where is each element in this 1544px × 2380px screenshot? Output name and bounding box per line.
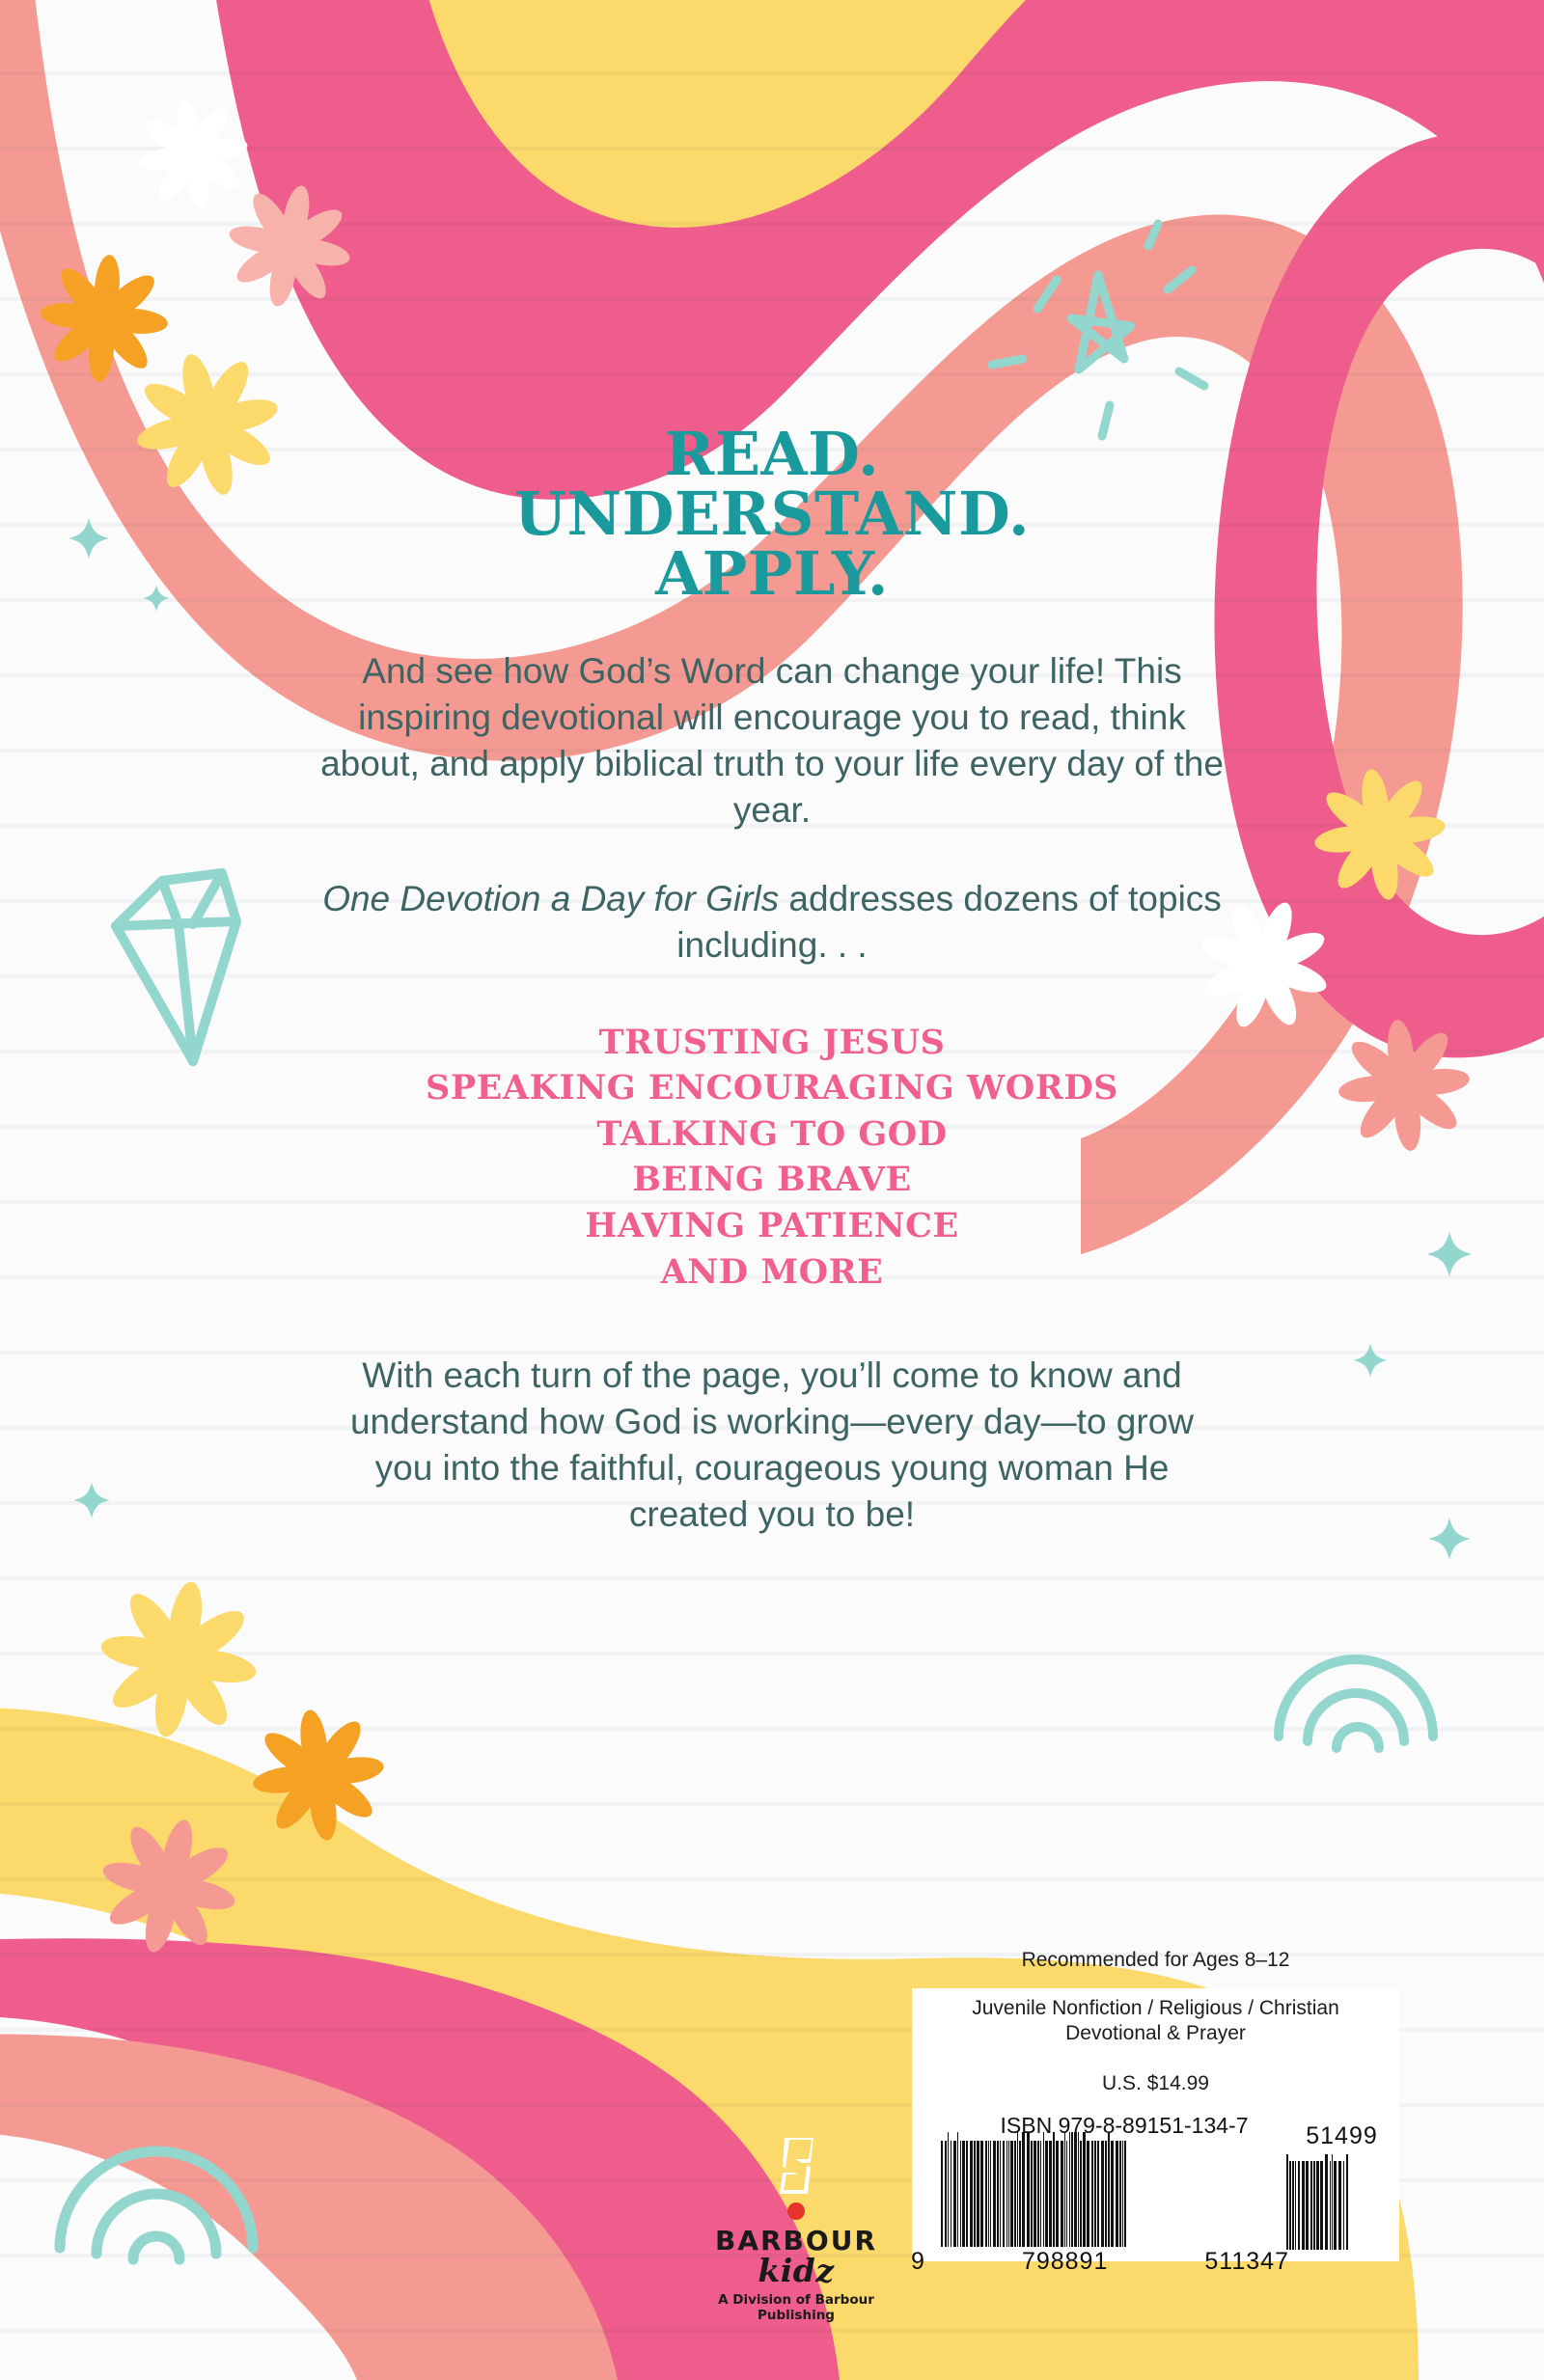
- topic-item: TRUSTING JESUS: [0, 1020, 1544, 1066]
- barcode-addon-digits: 51499: [1286, 2122, 1397, 2150]
- barcode-left-digits: 798891: [1022, 2248, 1108, 2276]
- rainbow-doodle-icon: [1279, 1659, 1433, 1748]
- topic-item: SPEAKING ENCOURAGING WORDS: [0, 1065, 1544, 1111]
- publisher-logo: BARBOUR kidz A Division of Barbour Publi…: [685, 2134, 907, 2323]
- topics-intro-paragraph: One Devotion a Day for Girls addresses d…: [0, 876, 1544, 969]
- headline-line-2: UNDERSTAND.: [0, 484, 1544, 544]
- daisy-flower-icon: [35, 249, 173, 387]
- barbour-exclamation-mark-icon: [685, 2134, 907, 2227]
- topic-item: TALKING TO GOD: [0, 1111, 1544, 1158]
- topics-list: TRUSTING JESUS SPEAKING ENCOURAGING WORD…: [0, 1020, 1544, 1296]
- age-recommendation: Recommended for Ages 8–12: [912, 1949, 1399, 1972]
- back-cover-copy: READ. UNDERSTAND. APPLY. And see how God…: [0, 424, 1544, 1539]
- barcode-digits: 9 798891 511347: [907, 2248, 1293, 2276]
- topic-item: HAVING PATIENCE: [0, 1203, 1544, 1249]
- book-title: One Devotion a Day for Girls: [322, 879, 779, 918]
- barcode-right-digits: 511347: [1204, 2248, 1289, 2276]
- star-doodle-icon: [992, 224, 1204, 436]
- bisac-category: Juvenile Nonfiction / Religious / Christ…: [912, 1996, 1399, 2045]
- topic-item: AND MORE: [0, 1249, 1544, 1296]
- closing-paragraph: With each turn of the page, you’ll come …: [0, 1353, 1544, 1538]
- rainbow-doodle-icon: [60, 2151, 253, 2259]
- headline-line-1: READ.: [0, 424, 1544, 484]
- page-title: READ. UNDERSTAND. APPLY.: [0, 424, 1544, 604]
- daisy-flower-icon: [88, 1569, 270, 1751]
- barcode-icon: [941, 2141, 1274, 2247]
- daisy-flower-icon: [216, 173, 362, 318]
- publisher-name: BARBOUR: [685, 2227, 907, 2255]
- barcode-lead-digit: 9: [911, 2248, 925, 2276]
- daisy-flower-icon: [87, 1804, 252, 1969]
- isbn-label: ISBN 979-8-89151-134-7: [941, 2113, 1308, 2139]
- bisac-line-1: Juvenile Nonfiction / Religious / Christ…: [912, 1996, 1399, 2021]
- book-back-cover: READ. UNDERSTAND. APPLY. And see how God…: [0, 0, 1544, 2380]
- barcode-addon-icon: [1286, 2161, 1397, 2250]
- daisy-flower-icon: [244, 1701, 393, 1849]
- publisher-tagline: A Division of Barbour Publishing: [685, 2292, 907, 2323]
- topic-item: BEING BRAVE: [0, 1157, 1544, 1203]
- publisher-imprint: kidz: [685, 2255, 907, 2288]
- bisac-line-2: Devotional & Prayer: [912, 2021, 1399, 2046]
- price-label: U.S. $14.99: [912, 2072, 1399, 2095]
- intro-paragraph: And see how God’s Word can change your l…: [0, 648, 1544, 834]
- headline-line-3: APPLY.: [0, 544, 1544, 604]
- daisy-flower-icon: [129, 91, 258, 219]
